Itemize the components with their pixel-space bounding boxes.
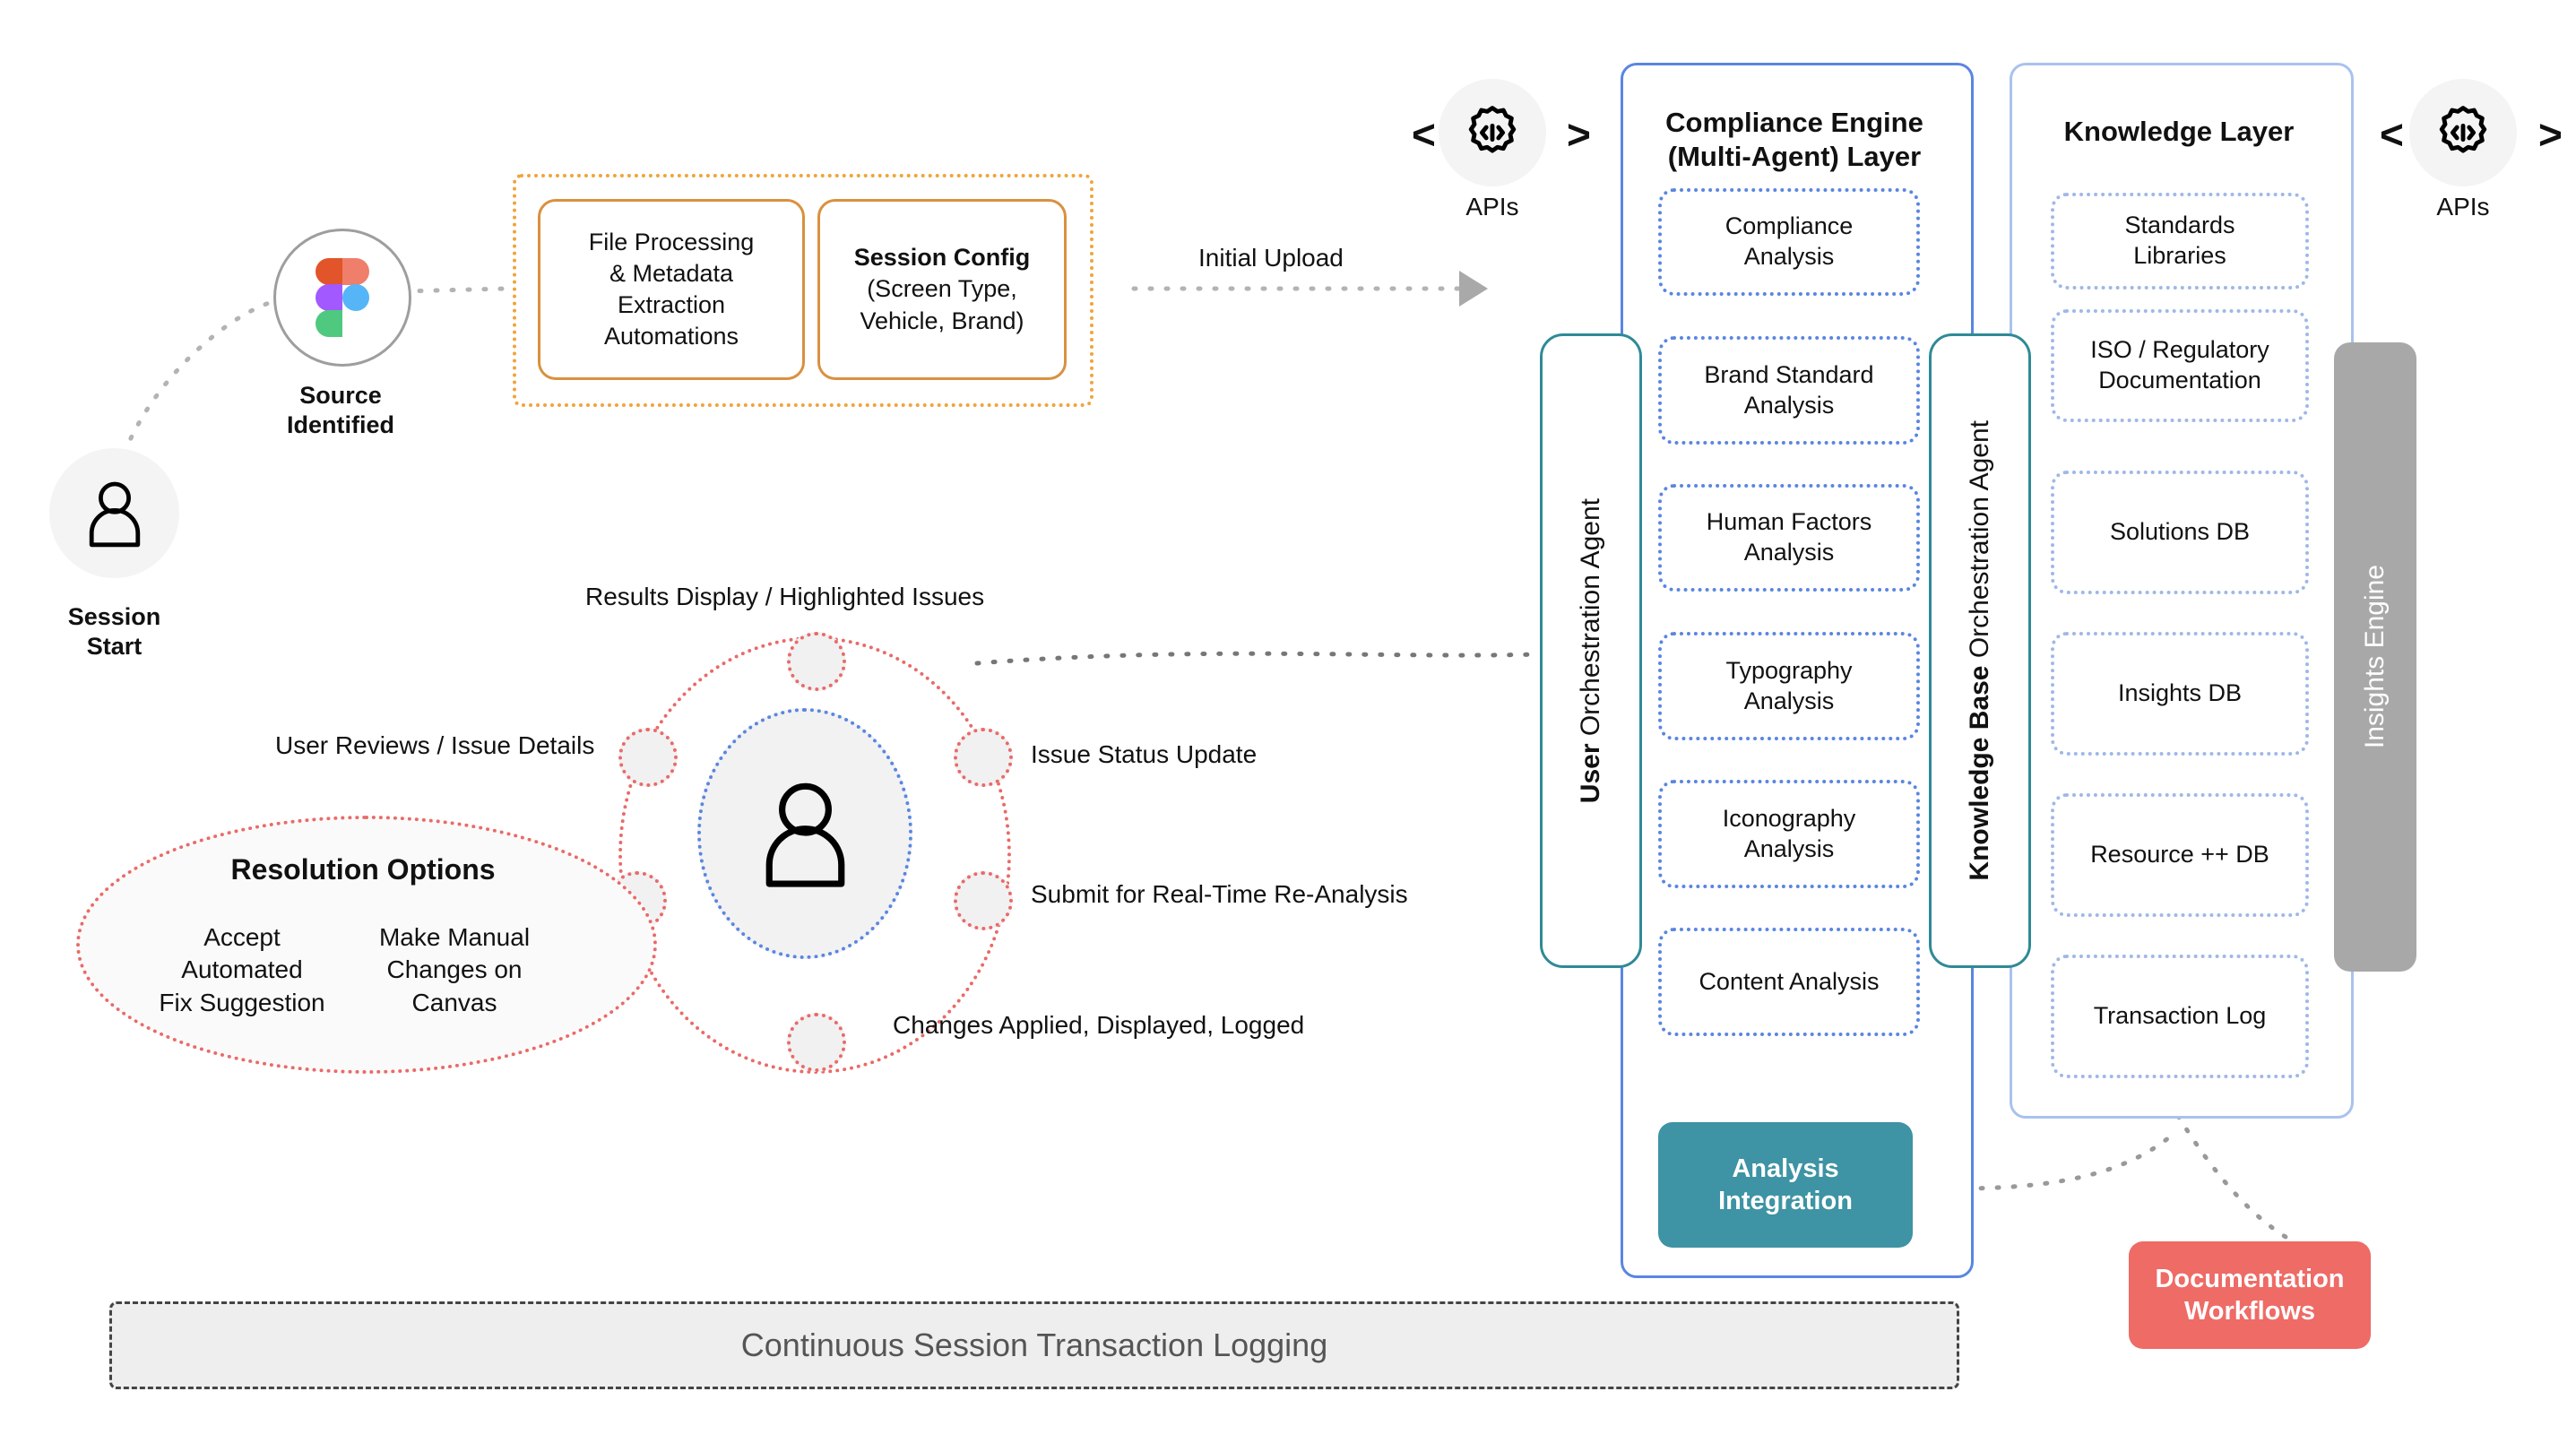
- knowledge-box-resource-db-label: Resource ++ DB: [2090, 840, 2269, 870]
- apis-left-chevron-left: <: [1412, 114, 1436, 155]
- hub-label-user-reviews: User Reviews / Issue Details: [275, 731, 594, 760]
- apis-left-label: APIs: [1439, 193, 1546, 221]
- knowledge-box-iso-regulatory[interactable]: ISO / Regulatory Documentation: [2051, 309, 2309, 422]
- insights-engine-column[interactable]: Insights Engine: [2334, 342, 2416, 972]
- knowledge-box-transaction-log[interactable]: Transaction Log: [2051, 955, 2309, 1078]
- knowledge-layer-title-text: Knowledge Layer: [2064, 116, 2295, 147]
- agent-box-human-factors-analysis[interactable]: Human Factors Analysis: [1658, 484, 1920, 592]
- knowledge-box-insights-db-label: Insights DB: [2118, 678, 2242, 709]
- knowledge-orchestration-agent-rest: Orchestration Agent: [1965, 420, 1994, 666]
- knowledge-box-insights-db[interactable]: Insights DB: [2051, 632, 2309, 756]
- agent-box-typography-analysis-label: Typography Analysis: [1725, 656, 1852, 717]
- apis-right-chevron-left: <: [2380, 114, 2404, 155]
- hub-label-changes-applied: Changes Applied, Displayed, Logged: [893, 1011, 1304, 1040]
- hub-satellite-top[interactable]: [787, 632, 846, 691]
- agent-box-content-analysis[interactable]: Content Analysis: [1658, 928, 1920, 1036]
- knowledge-box-standards-libraries-label: Standards Libraries: [2124, 211, 2235, 272]
- user-orchestration-agent-rest: Orchestration Agent: [1576, 498, 1605, 744]
- source-identified-label-line2: Identified: [251, 411, 430, 440]
- hub-satellite-upper-right[interactable]: [954, 728, 1013, 787]
- source-identified-circle[interactable]: [273, 229, 411, 367]
- initial-upload-label: Initial Upload: [1198, 244, 1344, 272]
- documentation-workflows-label: Documentation Workflows: [2155, 1263, 2344, 1328]
- agent-box-compliance-analysis-label: Compliance Analysis: [1725, 212, 1854, 272]
- hub-label-issue-status: Issue Status Update: [1031, 740, 1257, 769]
- knowledge-box-standards-libraries[interactable]: Standards Libraries: [2051, 193, 2309, 290]
- session-start-avatar: [49, 448, 179, 578]
- source-identified-label: Source Identified: [251, 381, 430, 440]
- knowledge-box-solutions-db-label: Solutions DB: [2110, 517, 2250, 548]
- api-gear-code-icon: [2433, 102, 2494, 163]
- compliance-engine-title-line1: Compliance Engine: [1629, 106, 1959, 140]
- agent-box-content-analysis-label: Content Analysis: [1699, 967, 1879, 998]
- agent-box-compliance-analysis[interactable]: Compliance Analysis: [1658, 188, 1920, 296]
- intake-box-file-processing-label: File Processing & Metadata Extraction Au…: [589, 227, 755, 352]
- agent-box-iconography-analysis[interactable]: Iconography Analysis: [1658, 780, 1920, 888]
- intake-box-session-config-sub: (Screen Type, Vehicle, Brand): [860, 273, 1024, 336]
- agent-box-brand-standard-analysis[interactable]: Brand Standard Analysis: [1658, 336, 1920, 445]
- intake-box-session-config-title: Session Config: [854, 242, 1031, 273]
- compliance-engine-title-line2: (Multi-Agent) Layer: [1629, 140, 1959, 174]
- analysis-integration-box[interactable]: Analysis Integration: [1658, 1122, 1913, 1248]
- apis-right-chevron-right: >: [2538, 114, 2563, 155]
- user-orchestration-agent-column[interactable]: User Orchestration Agent: [1540, 333, 1642, 968]
- apis-right-icon-circle[interactable]: [2409, 79, 2517, 186]
- apis-right-label: APIs: [2409, 193, 2517, 221]
- knowledge-box-solutions-db[interactable]: Solutions DB: [2051, 471, 2309, 594]
- hub-satellite-upper-left[interactable]: [618, 728, 678, 787]
- user-orchestration-agent-bold: User: [1576, 743, 1605, 803]
- hub-label-results-display: Results Display / Highlighted Issues: [585, 583, 984, 611]
- agent-box-iconography-analysis-label: Iconography Analysis: [1723, 804, 1856, 865]
- resolution-options-title: Resolution Options: [108, 853, 618, 886]
- hub-satellite-lower-right[interactable]: [954, 871, 1013, 930]
- knowledge-box-transaction-log-label: Transaction Log: [2094, 1001, 2267, 1032]
- api-gear-code-icon: [1462, 102, 1523, 163]
- diagram-canvas: Session Start Source Identified File Pro…: [0, 0, 2576, 1452]
- session-start-label-line2: Start: [27, 632, 202, 661]
- apis-left-chevron-right: >: [1567, 114, 1591, 155]
- user-avatar-icon: [82, 479, 147, 549]
- intake-box-session-config[interactable]: Session Config (Screen Type, Vehicle, Br…: [817, 199, 1067, 380]
- insights-engine-label: Insights Engine: [2362, 565, 2389, 748]
- agent-box-brand-standard-analysis-label: Brand Standard Analysis: [1704, 360, 1873, 421]
- resolution-option-manual-changes[interactable]: Make Manual Changes on Canvas: [342, 921, 566, 1019]
- intake-box-file-processing[interactable]: File Processing & Metadata Extraction Au…: [538, 199, 805, 380]
- session-start-label: Session Start: [27, 602, 202, 661]
- documentation-workflows-box[interactable]: Documentation Workflows: [2129, 1241, 2371, 1349]
- user-hub-core[interactable]: [697, 708, 912, 959]
- knowledge-layer-title: Knowledge Layer: [2018, 115, 2339, 149]
- figma-logo-icon: [316, 258, 369, 337]
- analysis-integration-label: Analysis Integration: [1718, 1153, 1853, 1218]
- transaction-logging-label: Continuous Session Transaction Logging: [741, 1327, 1327, 1364]
- knowledge-box-resource-db[interactable]: Resource ++ DB: [2051, 793, 2309, 917]
- agent-box-human-factors-analysis-label: Human Factors Analysis: [1707, 507, 1872, 568]
- session-start-label-line1: Session: [27, 602, 202, 632]
- resolution-option-accept-automated[interactable]: Accept Automated Fix Suggestion: [134, 921, 350, 1019]
- knowledge-box-iso-regulatory-label: ISO / Regulatory Documentation: [2090, 335, 2269, 396]
- hub-satellite-bottom[interactable]: [787, 1013, 846, 1072]
- knowledge-orchestration-agent-column[interactable]: Knowledge Base Orchestration Agent: [1929, 333, 2031, 968]
- apis-left-icon-circle[interactable]: [1439, 79, 1546, 186]
- knowledge-orchestration-agent-bold: Knowledge Base: [1965, 666, 1994, 881]
- agent-box-typography-analysis[interactable]: Typography Analysis: [1658, 632, 1920, 740]
- user-avatar-icon: [754, 774, 857, 893]
- hub-label-submit-reanalysis: Submit for Real-Time Re-Analysis: [1031, 880, 1408, 909]
- compliance-engine-title: Compliance Engine (Multi-Agent) Layer: [1629, 106, 1959, 174]
- transaction-logging-bar: Continuous Session Transaction Logging: [109, 1301, 1959, 1389]
- source-identified-label-line1: Source: [251, 381, 430, 411]
